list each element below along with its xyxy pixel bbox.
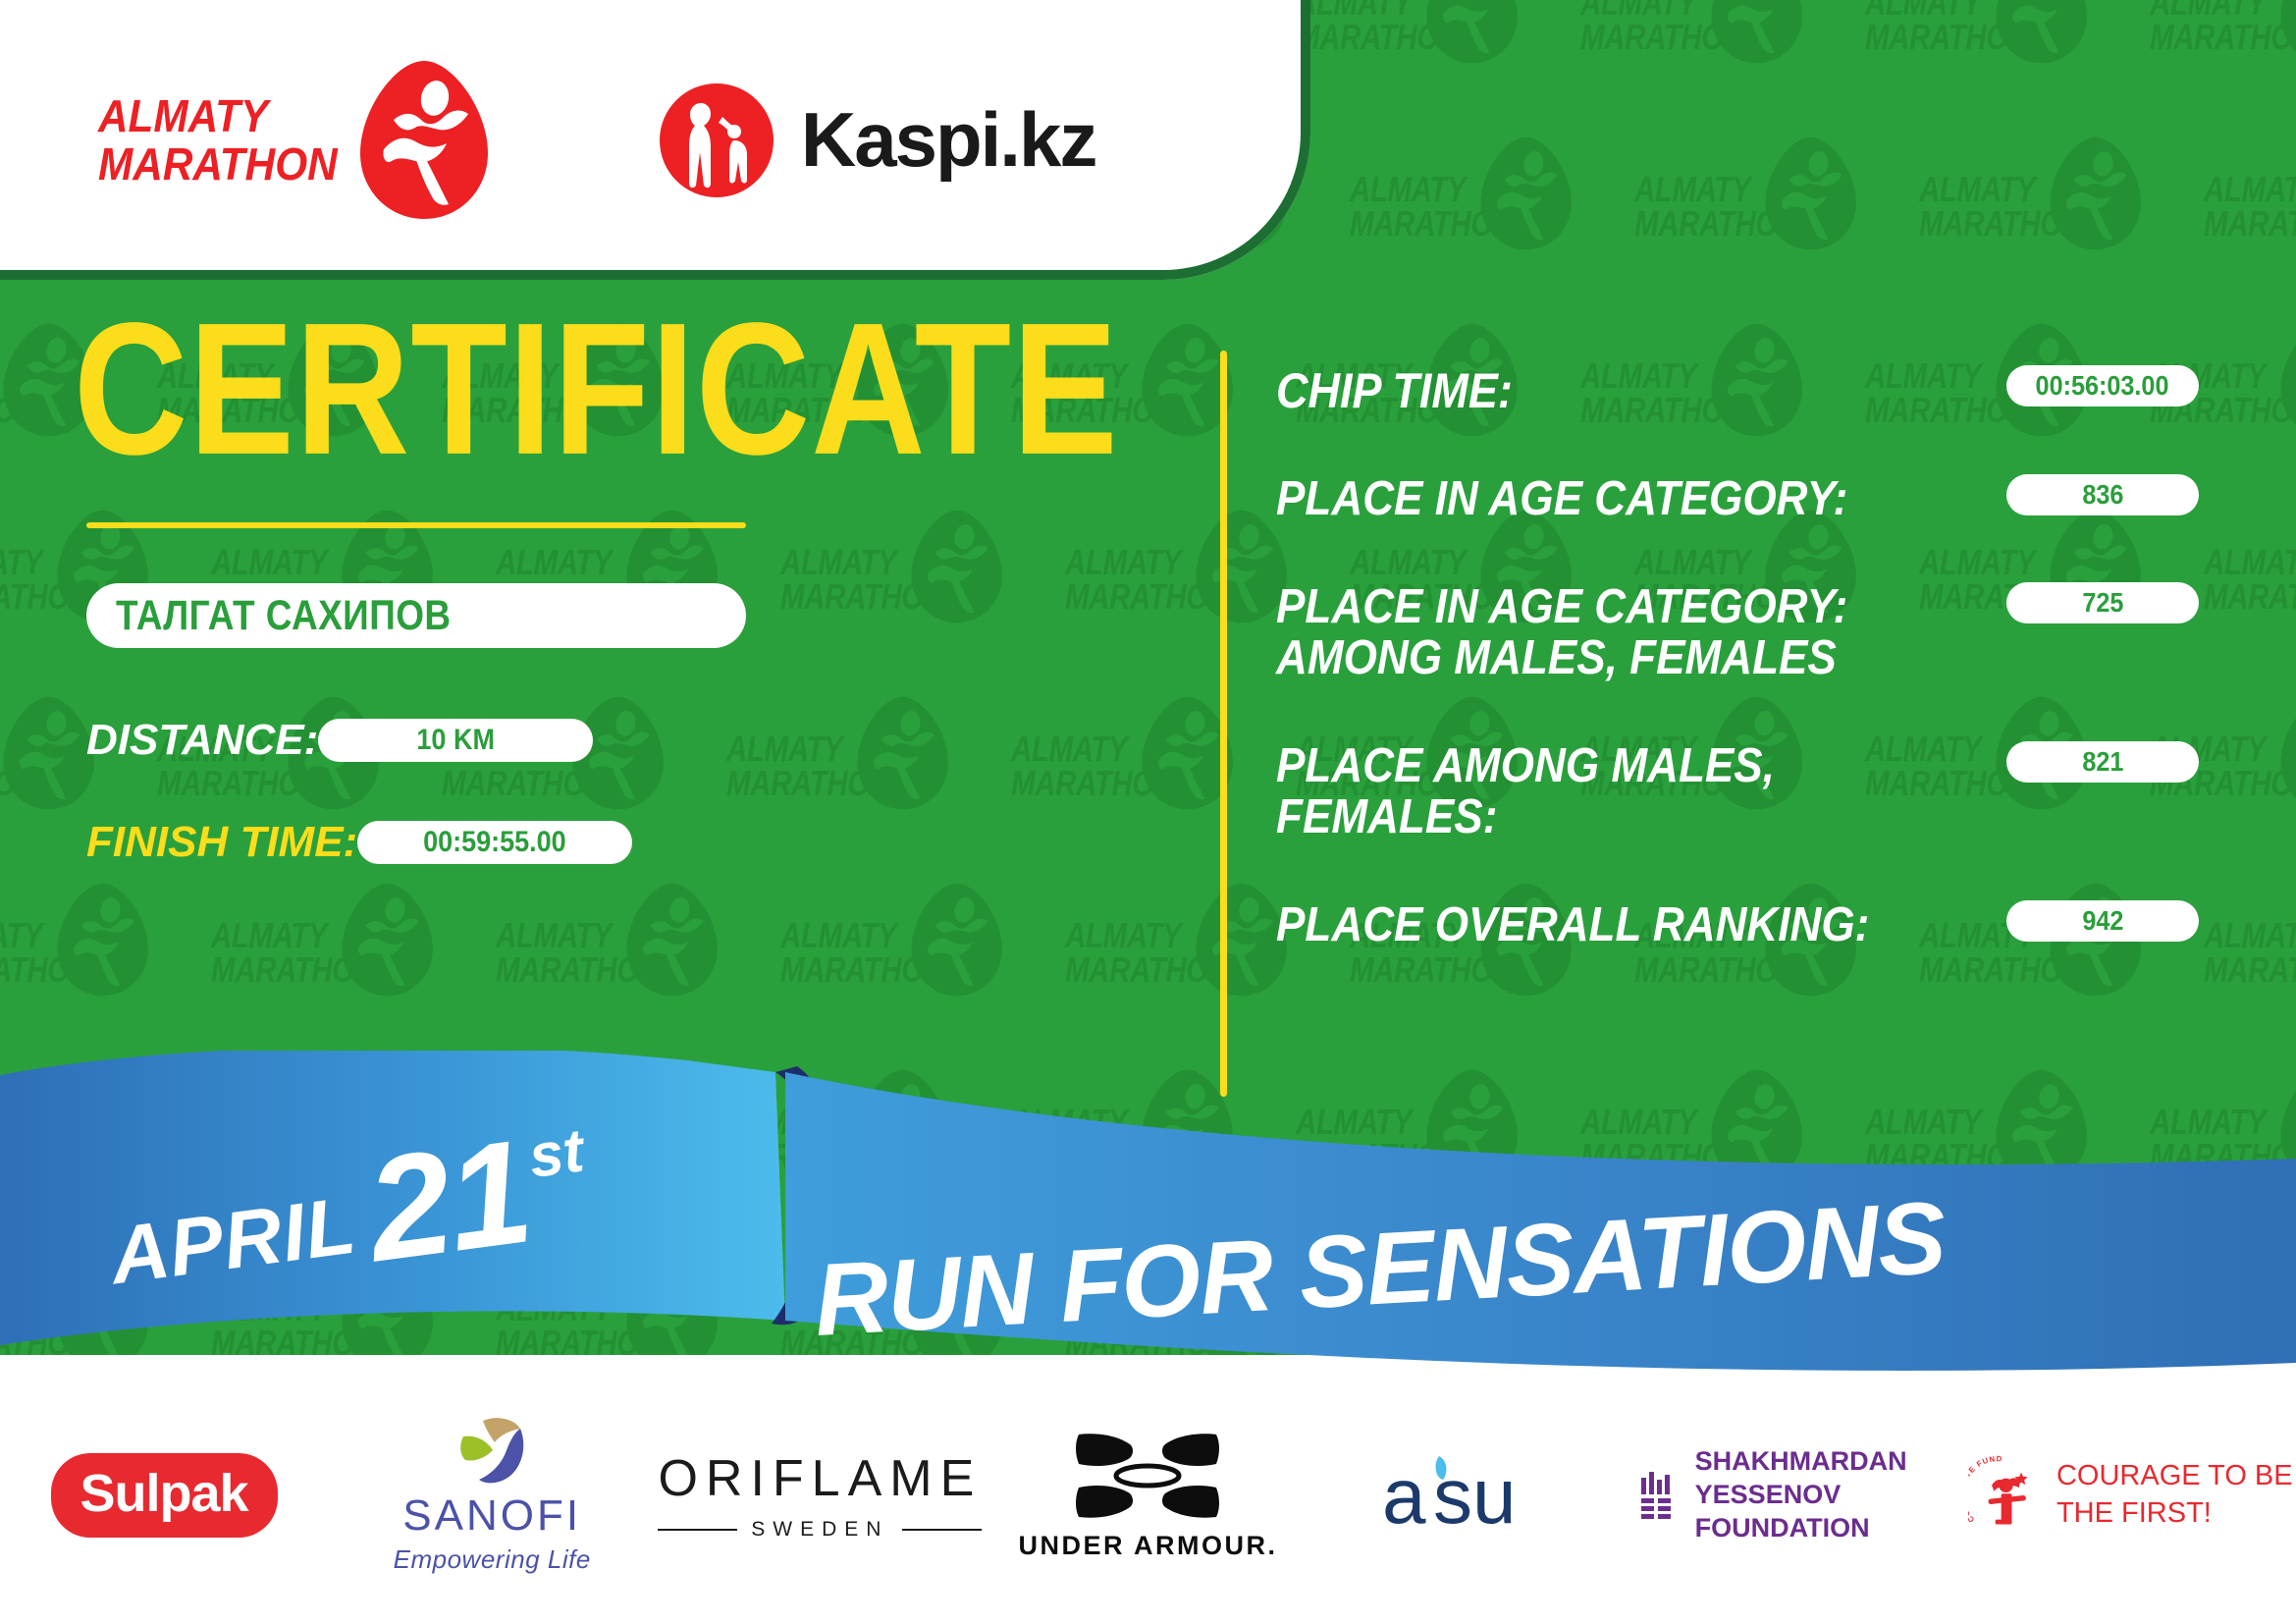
stat-value-field: 942 [2006, 900, 2199, 942]
under-armour-wordmark: UNDER ARMOUR. [1018, 1531, 1277, 1561]
yessenov-foundation-logo [1640, 1446, 1674, 1544]
sponsor-sanofi: SANOFI Empowering Life [328, 1397, 656, 1594]
ribbon-day: 21 [358, 1107, 539, 1296]
almaty-marathon-runner-drop-icon [341, 880, 435, 1000]
under-armour-logo [1075, 1431, 1220, 1521]
title-divider [86, 522, 746, 528]
marathon-logo-line1: ALMATY [98, 92, 338, 139]
watermark-tile: ALMATYMARATHON [496, 874, 780, 1060]
watermark-tile: ALMATYMARATHON [2204, 874, 2296, 1060]
watermark-text: ALMATYMARATHON [1065, 919, 1226, 987]
sponsor-under-armour: UNDER ARMOUR. [984, 1397, 1311, 1594]
oriflame-wordmark: ORIFLAME [658, 1449, 982, 1508]
almaty-marathon-runner-drop-icon [1195, 507, 1289, 626]
sponsor-row: Sulpak SANOFI Empowering Life ORIFLAME S… [0, 1392, 2296, 1598]
stat-value: 725 [2082, 587, 2123, 619]
yessenov-wordmark: SHAKHMARDAN YESSENOV FOUNDATION [1695, 1445, 1968, 1544]
athlete-name-field: ТАЛГАТ САХИПОВ [86, 583, 746, 648]
watermark-tile: ALMATYMARATHON [2204, 501, 2296, 687]
marathon-logo-line2: MARATHON [98, 140, 338, 188]
kaspi-wordmark: Kaspi.kz [801, 95, 1095, 185]
almaty-marathon-runner-drop-icon [56, 880, 150, 1000]
stat-value: 821 [2082, 746, 2123, 778]
ribbon-month: APRIL [105, 1179, 361, 1303]
almaty-marathon-runner-drop-icon [2279, 0, 2296, 67]
stat-row: PLACE OVERALL RANKING: 942 [1276, 900, 2199, 951]
watermark-text: ALMATYMARATHON [1580, 0, 1741, 54]
stat-row: CHIP TIME: 00:56:03.00 [1276, 365, 2199, 417]
watermark-text: ALMATYMARATHON [0, 919, 87, 987]
distance-label: DISTANCE: [86, 716, 318, 765]
watermark-text: ALMATYMARATHON [2150, 0, 2296, 54]
distance-value: 10 KM [417, 724, 496, 757]
stat-value-field: 821 [2006, 741, 2199, 783]
oriflame-rule-left [658, 1529, 737, 1531]
sponsor-asu: a su [1312, 1397, 1640, 1594]
almaty-marathon-wordmark: ALMATY MARATHON [98, 92, 338, 188]
header-panel: ALMATY MARATHON [0, 0, 1310, 280]
vertical-divider [1220, 351, 1227, 1097]
ribbon-ordinal: st [525, 1115, 588, 1192]
stat-label: PLACE OVERALL RANKING: [1276, 900, 1869, 951]
distance-row: DISTANCE: 10 KM [86, 711, 1158, 770]
almaty-marathon-runner-drop-icon [2279, 320, 2296, 440]
finish-time-label: FINISH TIME: [86, 818, 357, 867]
almaty-marathon-logo: ALMATY MARATHON [98, 59, 491, 221]
watermark-text: ALMATYMARATHON [496, 919, 657, 987]
almaty-marathon-runner-drop-icon [1710, 0, 1804, 67]
stat-row: PLACE IN AGE CATEGORY: AMONG MALES, FEMA… [1276, 582, 2199, 684]
sponsor-corporate-fund: CORPORATE FUND COURAGE TO BE THE FIRST! [1968, 1397, 2296, 1594]
sponsor-sulpak: Sulpak [0, 1397, 328, 1594]
watermark-text: ALMATYMARATHON [1865, 0, 2026, 54]
asu-logo: a su [1378, 1446, 1575, 1544]
almaty-marathon-runner-drop-icon [2279, 693, 2296, 813]
stat-label: PLACE AMONG MALES, FEMALES: [1276, 741, 1877, 843]
almaty-marathon-runner-drop-icon [1995, 0, 2089, 67]
watermark-text: ALMATYMARATHON [780, 919, 941, 987]
almaty-marathon-runner-drop-icon [1425, 0, 1520, 67]
watermark-tile: ALMATYMARATHON [1580, 0, 1865, 128]
watermark-text: ALMATYMARATHON [2204, 173, 2296, 241]
corporate-fund-courage-logo: CORPORATE FUND [1968, 1432, 2045, 1559]
watermark-text: ALMATYMARATHON [1296, 0, 1457, 54]
finish-time-value: 00:59:55.00 [423, 826, 566, 859]
stat-value-field: 00:56:03.00 [2006, 365, 2199, 406]
sanofi-wordmark: SANOFI [402, 1491, 581, 1541]
stat-value: 942 [2082, 905, 2123, 937]
watermark-tile: ALMATYMARATHON [1634, 128, 1919, 314]
watermark-text: ALMATYMARATHON [1634, 173, 1795, 241]
watermark-tile: ALMATYMARATHON [2204, 128, 2296, 314]
stat-label: PLACE IN AGE CATEGORY: AMONG MALES, FEMA… [1276, 582, 1877, 684]
finish-time-row: FINISH TIME: 00:59:55.00 [86, 813, 1158, 872]
watermark-text: ALMATYMARATHON [211, 919, 372, 987]
watermark-text: ALMATYMARATHON [1919, 173, 2080, 241]
almaty-marathon-runner-drop-icon [1764, 134, 1858, 253]
kaspi-family-oval-icon [658, 81, 775, 199]
sulpak-logo: Sulpak [51, 1453, 278, 1538]
watermark-tile: ALMATYMARATHON [1919, 128, 2204, 314]
watermark-text: ALMATYMARATHON [1350, 173, 1511, 241]
courage-wordmark: COURAGE TO BE THE FIRST! [2056, 1458, 2296, 1532]
left-column: CERTIFICATE ТАЛГАТ САХИПОВ DISTANCE: 10 … [0, 295, 1158, 872]
almaty-marathon-runner-drop-icon [625, 880, 720, 1000]
almaty-marathon-runner-drop-icon [1479, 134, 1574, 253]
almaty-marathon-runner-drop-icon [358, 59, 491, 221]
stats-column: CHIP TIME: 00:56:03.00 PLACE IN AGE CATE… [1276, 365, 2199, 1008]
finish-time-value-field: 00:59:55.00 [357, 821, 632, 864]
almaty-marathon-runner-drop-icon [910, 880, 1004, 1000]
oriflame-tagline: SWEDEN [751, 1518, 888, 1542]
stat-value-field: 725 [2006, 582, 2199, 623]
sponsor-yessenov-foundation: SHAKHMARDAN YESSENOV FOUNDATION [1640, 1397, 1968, 1594]
page-title: CERTIFICATE [0, 295, 1112, 483]
sponsor-oriflame: ORIFLAME SWEDEN [656, 1397, 984, 1594]
athlete-name-value: ТАЛГАТ САХИПОВ [116, 592, 452, 640]
sanofi-logo [454, 1417, 530, 1486]
oriflame-rule-right [902, 1529, 982, 1531]
stat-label: PLACE IN AGE CATEGORY: [1276, 474, 1847, 525]
stat-value: 00:56:03.00 [2036, 370, 2169, 402]
svg-text:CORPORATE FUND: CORPORATE FUND [1968, 1454, 2002, 1524]
almaty-marathon-runner-drop-icon [1195, 880, 1289, 1000]
watermark-tile: ALMATYMARATHON [211, 874, 496, 1060]
stat-row: PLACE AMONG MALES, FEMALES: 821 [1276, 741, 2199, 843]
certificate-page: ALMATYMARATHONALMATYMARATHONALMATYMARATH… [0, 0, 2296, 1624]
corporate-fund-arc-text: CORPORATE FUND [1968, 1454, 2002, 1524]
almaty-marathon-runner-drop-icon [2049, 134, 2143, 253]
watermark-tile: ALMATYMARATHON [780, 874, 1065, 1060]
sanofi-tagline: Empowering Life [394, 1544, 591, 1575]
watermark-tile: ALMATYMARATHON [1865, 0, 2150, 128]
stat-value-field: 836 [2006, 474, 2199, 515]
stat-value: 836 [2082, 479, 2123, 511]
kaspi-logo: Kaspi.kz [658, 81, 1095, 199]
distance-value-field: 10 KM [318, 719, 593, 762]
stat-row: PLACE IN AGE CATEGORY: 836 [1276, 474, 2199, 525]
watermark-tile: ALMATYMARATHON [2150, 0, 2296, 128]
watermark-tile: ALMATYMARATHON [1296, 0, 1580, 128]
watermark-text: ALMATYMARATHON [2204, 546, 2296, 614]
watermark-tile: ALMATYMARATHON [1350, 128, 1634, 314]
watermark-text: ALMATYMARATHON [2204, 919, 2296, 987]
svg-text:a: a [1382, 1452, 1426, 1540]
watermark-tile: ALMATYMARATHON [0, 874, 211, 1060]
stat-label: CHIP TIME: [1276, 365, 1513, 417]
